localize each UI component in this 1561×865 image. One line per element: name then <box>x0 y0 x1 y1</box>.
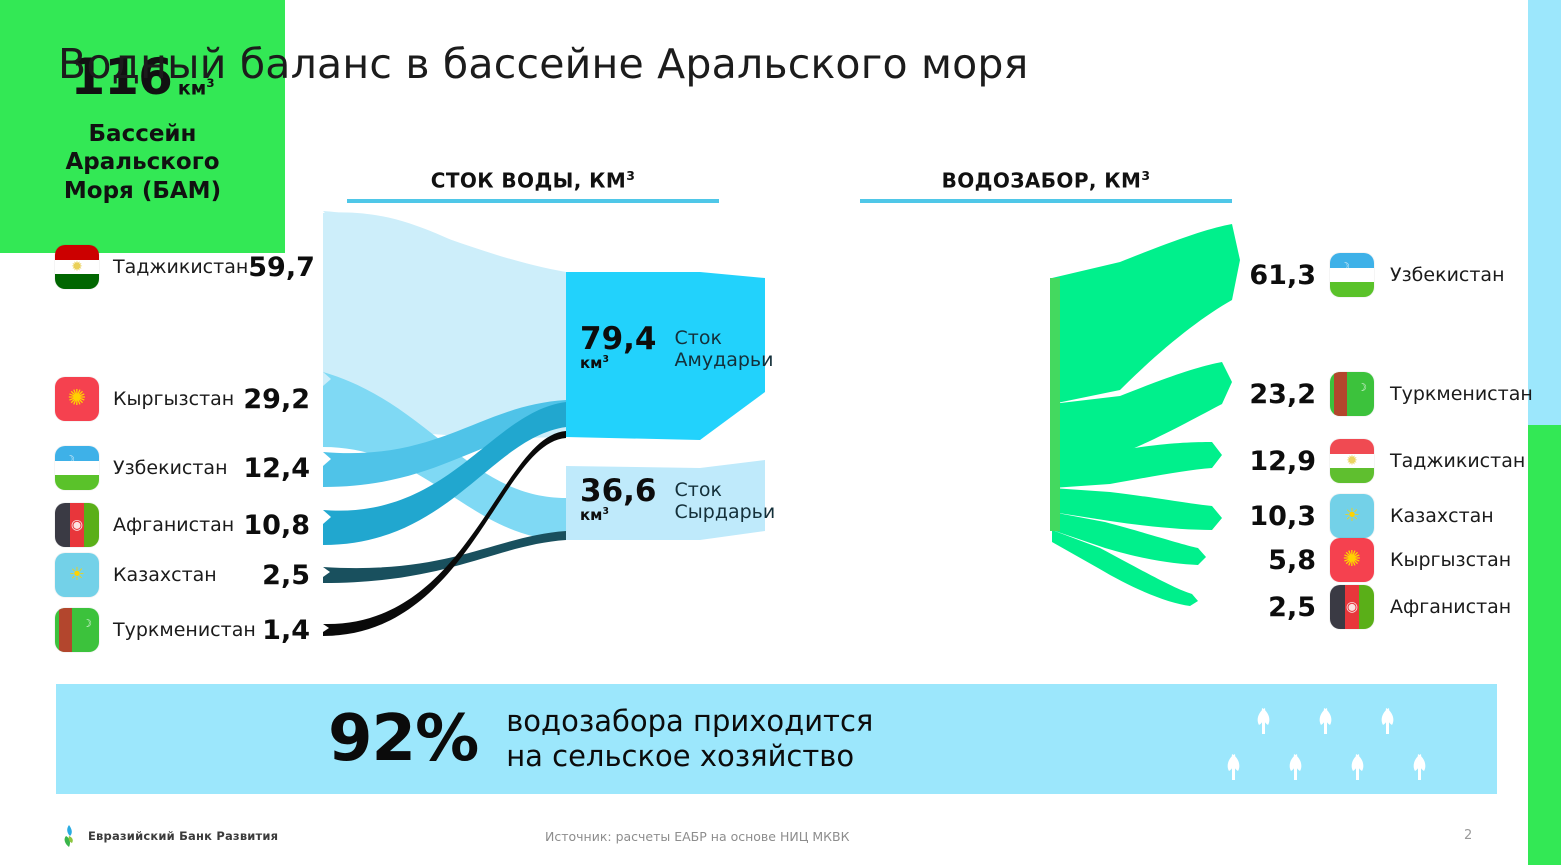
inflow-label-kyrgyzstan: Кыргызстан <box>113 388 243 410</box>
node-amudarya: 79,4 км3 Сток Амударьи <box>580 325 773 372</box>
inflow-value-kazakhstan: 2,5 <box>262 560 310 591</box>
flag-uzbekistan-right-icon: ☽ <box>1330 253 1374 297</box>
outflow-label-kazakhstan: Казахстан <box>1390 505 1494 527</box>
agriculture-callout-banner: 92% водозабора приходится на сельское хо… <box>56 684 1497 794</box>
node-aral-basin: 116 км3 Бассейн Аральского Моря (БАМ) <box>0 0 285 253</box>
flow-kazakhstan-inflow <box>323 531 566 583</box>
flag-tajikistan-icon: ✹ <box>55 245 99 289</box>
inflow-header-sup: 3 <box>626 168 635 183</box>
inflow-header-label: СТОК ВОДЫ, КМ <box>431 169 626 193</box>
outflow-value-kazakhstan: 10,3 <box>1238 501 1316 532</box>
inflow-row-uzbekistan: ☽ Узбекистан 12,4 <box>55 446 310 490</box>
syrdarya-label-line2: Сырдарьи <box>675 501 776 523</box>
callout-text-line2: на сельское хозяйство <box>506 739 873 774</box>
eabr-logo-text: Евразийский Банк Развития <box>88 829 278 843</box>
outflow-header-label: ВОДОЗАБОР, КМ <box>942 169 1142 193</box>
outflow-row-afghanistan: 2,5 ◉ Афганистан <box>1238 585 1538 629</box>
flag-kazakhstan-icon: ☀ <box>55 553 99 597</box>
amudarya-unit-sup: 3 <box>602 354 608 365</box>
amudarya-label-line1: Сток <box>675 327 774 349</box>
edge-accent-strip <box>1528 0 1561 865</box>
flow-tajikistan-inflow <box>323 211 566 430</box>
inflow-value-turkmenistan: 1,4 <box>262 615 310 646</box>
page-title: Водный баланс в бассейне Аральского моря <box>58 40 1028 88</box>
flow-uzbekistan-inflow <box>323 400 566 487</box>
outflow-row-kyrgyzstan: 5,8 ✺ Кыргызстан <box>1238 538 1538 582</box>
outflow-row-kazakhstan: 10,3 ☀ Казахстан <box>1238 494 1538 538</box>
flow-kazakhstan-outflow <box>1052 488 1222 530</box>
node-syrdarya: 36,6 км3 Сток Сырдарьи <box>580 477 775 524</box>
outflow-header-rule <box>860 199 1232 203</box>
outflow-label-uzbekistan: Узбекистан <box>1390 264 1505 286</box>
basin-label-line1: Бассейн <box>64 120 221 148</box>
flag-afghanistan-right-icon: ◉ <box>1330 585 1374 629</box>
outflow-label-tajikistan: Таджикистан <box>1390 450 1525 472</box>
wheat-icon <box>1369 698 1409 738</box>
flag-kyrgyzstan-icon: ✺ <box>55 377 99 421</box>
wheat-icon <box>1245 698 1285 738</box>
flow-kyrgyzstan-inflow <box>323 372 566 540</box>
syrdarya-unit-sup: 3 <box>602 506 608 517</box>
basin-label-line3: Моря (БАМ) <box>64 177 221 205</box>
flag-kazakhstan-right-icon: ☀ <box>1330 494 1374 538</box>
wheat-icon <box>1277 744 1317 784</box>
outflow-value-tajikistan: 12,9 <box>1238 446 1316 477</box>
flow-turkmenistan-outflow <box>1052 362 1232 462</box>
inflow-label-tajikistan: Таджикистан <box>113 256 248 278</box>
basin-label-line2: Аральского <box>64 148 221 176</box>
outflow-label-afghanistan: Афганистан <box>1390 596 1511 618</box>
callout-text: водозабора приходится на сельское хозяйс… <box>506 704 873 775</box>
flow-afghanistan-inflow <box>323 402 566 545</box>
syrdarya-unit: км <box>580 506 602 524</box>
inflow-label-turkmenistan: Туркменистан <box>113 619 262 641</box>
inflow-label-afghanistan: Афганистан <box>113 514 243 536</box>
edge-strip-blue <box>1528 0 1561 425</box>
callout-text-line1: водозабора приходится <box>506 704 873 739</box>
flow-tajikistan-outflow <box>1052 442 1222 488</box>
flow-uzbekistan-outflow <box>1052 224 1240 404</box>
outflow-value-kyrgyzstan: 5,8 <box>1238 545 1316 576</box>
outflow-value-turkmenistan: 23,2 <box>1238 379 1316 410</box>
flag-turkmenistan-icon: ☽ <box>55 608 99 652</box>
syrdarya-value: 36,6 <box>580 477 657 506</box>
syrdarya-label-line1: Сток <box>675 479 776 501</box>
outflow-row-uzbekistan: 61,3 ☽ Узбекистан <box>1238 253 1538 297</box>
outflow-value-uzbekistan: 61,3 <box>1238 260 1316 291</box>
inflow-value-uzbekistan: 12,4 <box>243 453 310 484</box>
inflow-row-kazakhstan: ☀ Казахстан 2,5 <box>55 553 310 597</box>
eabr-logo: Евразийский Банк Развития <box>58 824 278 848</box>
slide-canvas: Водный баланс в бассейне Аральского моря… <box>0 0 1561 865</box>
inflow-row-turkmenistan: ☽ Туркменистан 1,4 <box>55 608 310 652</box>
flow-kyrgyzstan-outflow <box>1052 512 1206 565</box>
flag-kyrgyzstan-right-icon: ✺ <box>1330 538 1374 582</box>
outflow-row-tajikistan: 12,9 ✹ Таджикистан <box>1238 439 1538 483</box>
callout-percent: 92% <box>328 702 478 776</box>
inflow-label-uzbekistan: Узбекистан <box>113 457 243 479</box>
outflow-header-sup: 3 <box>1141 168 1150 183</box>
inflow-row-tajikistan: ✹ Таджикистан 59,7 <box>55 245 310 289</box>
wheat-icon <box>1307 698 1347 738</box>
edge-strip-green <box>1528 425 1561 865</box>
inflow-label-kazakhstan: Казахстан <box>113 564 262 586</box>
wheat-icon <box>1215 744 1255 784</box>
amudarya-label-line2: Амударьи <box>675 349 774 371</box>
page-number: 2 <box>1464 828 1472 843</box>
wheat-icon <box>1339 744 1379 784</box>
inflow-value-tajikistan: 59,7 <box>248 252 315 283</box>
eabr-logo-icon <box>58 824 80 848</box>
flag-uzbekistan-icon: ☽ <box>55 446 99 490</box>
flag-turkmenistan-right-icon: ☽ <box>1330 372 1374 416</box>
inflow-value-kyrgyzstan: 29,2 <box>243 384 310 415</box>
inflow-row-afghanistan: ◉ Афганистан 10,8 <box>55 503 310 547</box>
flow-tajikistan-inflow-body <box>323 212 566 437</box>
inflow-header-rule <box>347 199 719 203</box>
outflow-label-turkmenistan: Туркменистан <box>1390 383 1533 405</box>
wheat-icon <box>1401 744 1441 784</box>
flag-afghanistan-icon: ◉ <box>55 503 99 547</box>
amudarya-unit: км <box>580 354 602 372</box>
outflow-label-kyrgyzstan: Кыргызстан <box>1390 549 1511 571</box>
amudarya-value: 79,4 <box>580 325 657 354</box>
basin-right-connector <box>1050 278 1060 531</box>
inflow-value-afghanistan: 10,8 <box>243 510 310 541</box>
wheat-icon-group <box>1223 696 1453 784</box>
outflow-row-turkmenistan: 23,2 ☽ Туркменистан <box>1238 372 1538 416</box>
inflow-row-kyrgyzstan: ✺ Кыргызстан 29,2 <box>55 377 310 421</box>
flag-tajikistan-right-icon: ✹ <box>1330 439 1374 483</box>
outflow-value-afghanistan: 2,5 <box>1238 592 1316 623</box>
section-header-outflow: ВОДОЗАБОР, КМ3 <box>860 168 1232 203</box>
source-note: Источник: расчеты ЕАБР на основе НИЦ МКВ… <box>545 829 850 844</box>
section-header-inflow: СТОК ВОДЫ, КМ3 <box>347 168 719 203</box>
flow-afghanistan-outflow <box>1052 530 1198 606</box>
flow-turkmenistan-inflow <box>323 431 566 636</box>
